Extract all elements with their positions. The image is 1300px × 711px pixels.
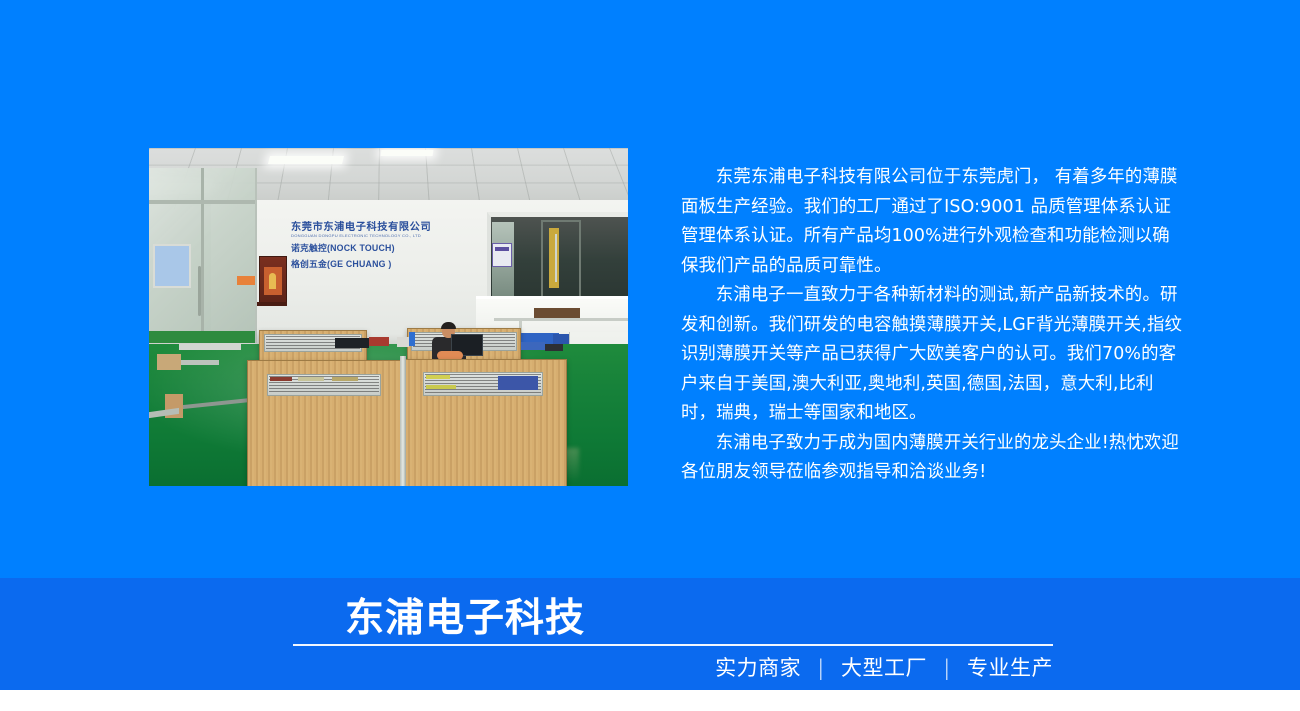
banner-tagline: 实力商家 | 大型工厂 | 专业生产: [293, 653, 1053, 683]
photo-shrine-cabinet: [259, 256, 287, 304]
photo-inner-door: [549, 228, 559, 288]
photo-glass-top-bar: [149, 200, 255, 204]
photo-desk-item: [409, 332, 415, 346]
tagline-separator: |: [934, 656, 960, 680]
banner-divider-line: [293, 644, 1053, 646]
photo-glass-base: [149, 331, 255, 343]
tagline-item-3: 专业生产: [967, 656, 1053, 680]
photo-counter-shelf: [494, 318, 628, 321]
wall-sign-line-en: DONGGUAN DONGPU ELECTRONIC TECHNOLOGY CO…: [291, 233, 471, 239]
wall-sign-brand-gechuang: 格创五金(GE CHUANG ): [291, 257, 471, 271]
photo-shrine-base: [257, 302, 287, 306]
tagline-item-2: 大型工厂: [841, 656, 927, 680]
photo-glass-mullion: [201, 168, 204, 343]
photo-seated-person-hair: [441, 322, 456, 329]
tagline-separator: |: [808, 656, 834, 680]
photo-door-handle: [555, 234, 557, 282]
photo-inner-door-frame: [541, 220, 581, 300]
photo-desk-item: [397, 337, 409, 347]
photo-ceiling-light: [381, 150, 434, 156]
wall-sign-brand-nock: 诺克触控(NOCK TOUCH): [291, 241, 471, 255]
wall-sign-line-cn: 东莞市东浦电子科技有限公司: [291, 222, 471, 233]
photo-desk-panel-strip: [423, 372, 543, 396]
office-reception-photo: 东莞市东浦电子科技有限公司 DONGGUAN DONGPU ELECTRONIC…: [149, 148, 628, 486]
photo-cardboard-box: [157, 354, 181, 370]
description-paragraph-1: 东莞东浦电子科技有限公司位于东莞虎门， 有着多年的薄膜面板生产经验。我们的工厂通…: [681, 163, 1186, 281]
company-description: 东莞东浦电子科技有限公司位于东莞虎门， 有着多年的薄膜面板生产经验。我们的工厂通…: [681, 163, 1186, 488]
photo-wall-company-sign: 东莞市东浦电子科技有限公司 DONGGUAN DONGPU ELECTRONIC…: [291, 222, 471, 271]
tagline-item-1: 实力商家: [715, 656, 801, 680]
photo-cubicle-divider-post: [400, 356, 406, 486]
photo-shrine-figure: [269, 273, 276, 289]
photo-desk-item: [521, 342, 545, 350]
banner-company-title: 东浦电子科技: [345, 597, 585, 641]
photo-desk-panel-strip: [267, 374, 381, 396]
photo-content: 东莞市东浦电子科技有限公司 DONGGUAN DONGPU ELECTRONIC…: [149, 148, 628, 486]
photo-background-item: [179, 344, 241, 350]
description-paragraph-3: 东浦电子致力于成为国内薄膜开关行业的龙头企业!热忱欢迎各位朋友领导莅临参观指导和…: [681, 429, 1186, 488]
photo-desk-item: [369, 337, 389, 346]
description-paragraph-2: 东浦电子一直致力于各种新材料的测试,新产品新技术的。研发和创新。我们研发的电容触…: [681, 281, 1186, 429]
page-bottom-whitespace: [0, 690, 1300, 711]
photo-counter-items: [534, 308, 580, 318]
photo-desk-item: [545, 344, 563, 351]
photo-notice-board: [153, 244, 191, 288]
photo-wall-sign-small: [492, 243, 512, 267]
photo-desk-item: [335, 338, 369, 348]
photo-ceiling-light: [268, 156, 344, 164]
photo-orange-notice: [237, 276, 255, 285]
photo-door-handle: [198, 266, 201, 316]
